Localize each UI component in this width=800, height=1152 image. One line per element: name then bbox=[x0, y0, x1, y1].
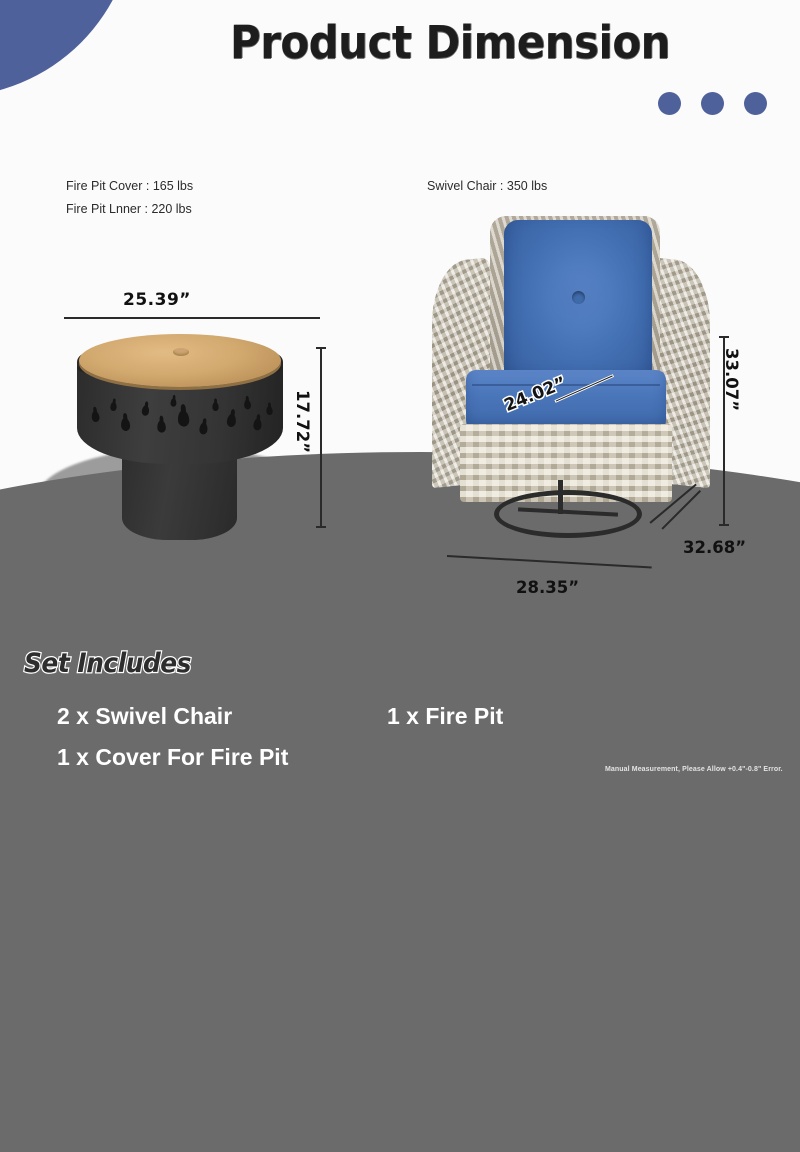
firepit-width-rule bbox=[64, 317, 320, 319]
product-dimension-infographic: Product Dimension Fire Pit Cover : 165 l… bbox=[0, 0, 800, 800]
chair-width-label: 28.35” bbox=[516, 578, 579, 597]
firepit-cover-weight-label: Fire Pit Cover : 165 lbs bbox=[66, 179, 193, 193]
firepit-inner-weight-label: Fire Pit Lnner : 220 lbs bbox=[66, 202, 192, 216]
firepit-lid-knob bbox=[173, 348, 189, 356]
chair-height-label: 33.07” bbox=[722, 348, 741, 411]
firepit-flame-cutouts bbox=[87, 388, 273, 444]
firepit-illustration bbox=[75, 330, 285, 545]
chair-tufting-button bbox=[572, 291, 585, 304]
dot-group-decoration bbox=[658, 92, 767, 115]
firepit-width-label: 25.39” bbox=[123, 290, 191, 310]
swivel-chair-illustration bbox=[432, 212, 710, 552]
chair-depth-label: 32.68” bbox=[683, 538, 746, 557]
set-includes-item-cover: 1 x Cover For Fire Pit bbox=[57, 744, 288, 771]
page-title: Product Dimension bbox=[230, 16, 670, 69]
chair-seat-cushion bbox=[466, 370, 666, 432]
chair-weight-label: Swivel Chair : 350 lbs bbox=[427, 179, 547, 193]
measurement-disclaimer: Manual Measurement, Please Allow +0.4"-0… bbox=[605, 766, 783, 773]
set-includes-item-fire-pit: 1 x Fire Pit bbox=[387, 703, 503, 730]
set-includes-item-swivel-chair: 2 x Swivel Chair bbox=[57, 703, 232, 730]
corner-blob-decoration bbox=[0, 0, 140, 102]
firepit-height-label: 17.72” bbox=[293, 390, 312, 453]
gray-band-decoration bbox=[0, 452, 800, 1152]
firepit-wood-lid bbox=[79, 334, 281, 387]
dot-icon-3 bbox=[744, 92, 767, 115]
dot-icon-1 bbox=[658, 92, 681, 115]
dot-icon-2 bbox=[701, 92, 724, 115]
set-includes-heading: Set Includes bbox=[24, 648, 191, 679]
firepit-height-rule bbox=[320, 347, 322, 528]
chair-back-cushion bbox=[504, 220, 652, 388]
